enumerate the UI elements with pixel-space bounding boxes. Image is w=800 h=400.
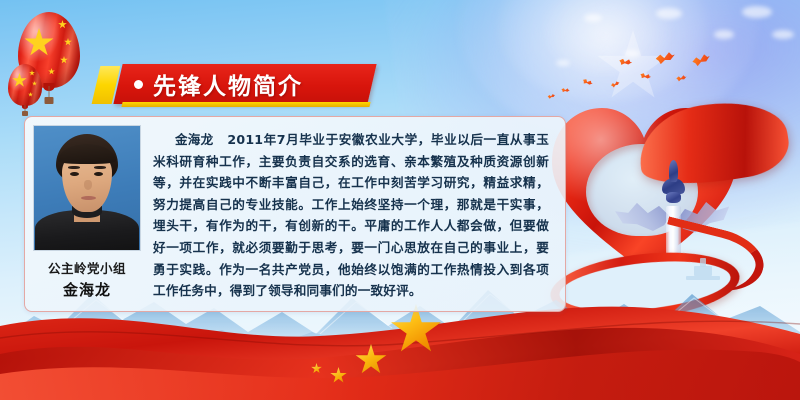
photo-nose — [84, 180, 92, 190]
profile-card: 公主岭党小组 金海龙 — [25, 117, 147, 311]
cloud-dot — [624, 50, 640, 57]
balloon-star-icon — [28, 92, 33, 97]
poster-canvas: 先锋人物简介 公主岭党小组 金海龙 金 — [0, 0, 800, 400]
bio-lead-name: 金海龙 — [175, 129, 213, 151]
profile-name-label: 金海龙 — [63, 279, 111, 300]
balloon-small-icon — [8, 64, 42, 106]
photo-eyebrow-left — [68, 166, 80, 169]
cloud-dot — [584, 14, 602, 22]
photo-eye-left — [70, 172, 79, 176]
photo-eye-right — [94, 172, 103, 176]
balloon-star-icon — [32, 81, 37, 86]
bullet-dot-icon — [134, 80, 143, 89]
bio-paragraph: 金海龙2011年7月毕业于安徽农业大学，毕业以后一直从事玉米科研育种工作，主要负… — [147, 117, 565, 311]
photo-mouth — [81, 196, 96, 200]
cloud-dot — [742, 6, 772, 18]
bio-body-text: 2011年7月毕业于安徽农业大学，毕业以后一直从事玉米科研育种工作，主要负责自交… — [153, 132, 549, 298]
cloud-dot — [556, 60, 570, 66]
photo-eyebrow-right — [94, 166, 106, 169]
balloon-star-icon — [58, 20, 67, 29]
balloon-basket — [22, 111, 28, 116]
balloon-basket — [45, 97, 54, 104]
cloud-dot — [656, 8, 682, 19]
balloon-star-icon — [29, 70, 35, 76]
page-title: 先锋人物简介 — [153, 67, 303, 101]
pillar-finial — [669, 160, 678, 182]
balloon-star-icon — [12, 73, 27, 88]
balloon-star-icon — [60, 56, 68, 64]
ribbon-swoop — [633, 93, 793, 194]
balloon-star-icon — [48, 68, 55, 75]
pillar-cap-lower — [666, 192, 681, 203]
banner-text-group: 先锋人物简介 — [134, 64, 384, 104]
balloon-star-icon — [64, 38, 72, 46]
profile-photo — [33, 125, 141, 251]
balloon-envelope — [8, 64, 42, 106]
cloud-dot — [714, 30, 734, 39]
balloon-star-icon — [24, 28, 54, 58]
profile-org-label: 公主岭党小组 — [48, 258, 126, 277]
cloud-dot — [772, 30, 794, 39]
content-panel: 公主岭党小组 金海龙 金海龙2011年7月毕业于安徽农业大学，毕业以后一直从事玉… — [24, 116, 566, 312]
